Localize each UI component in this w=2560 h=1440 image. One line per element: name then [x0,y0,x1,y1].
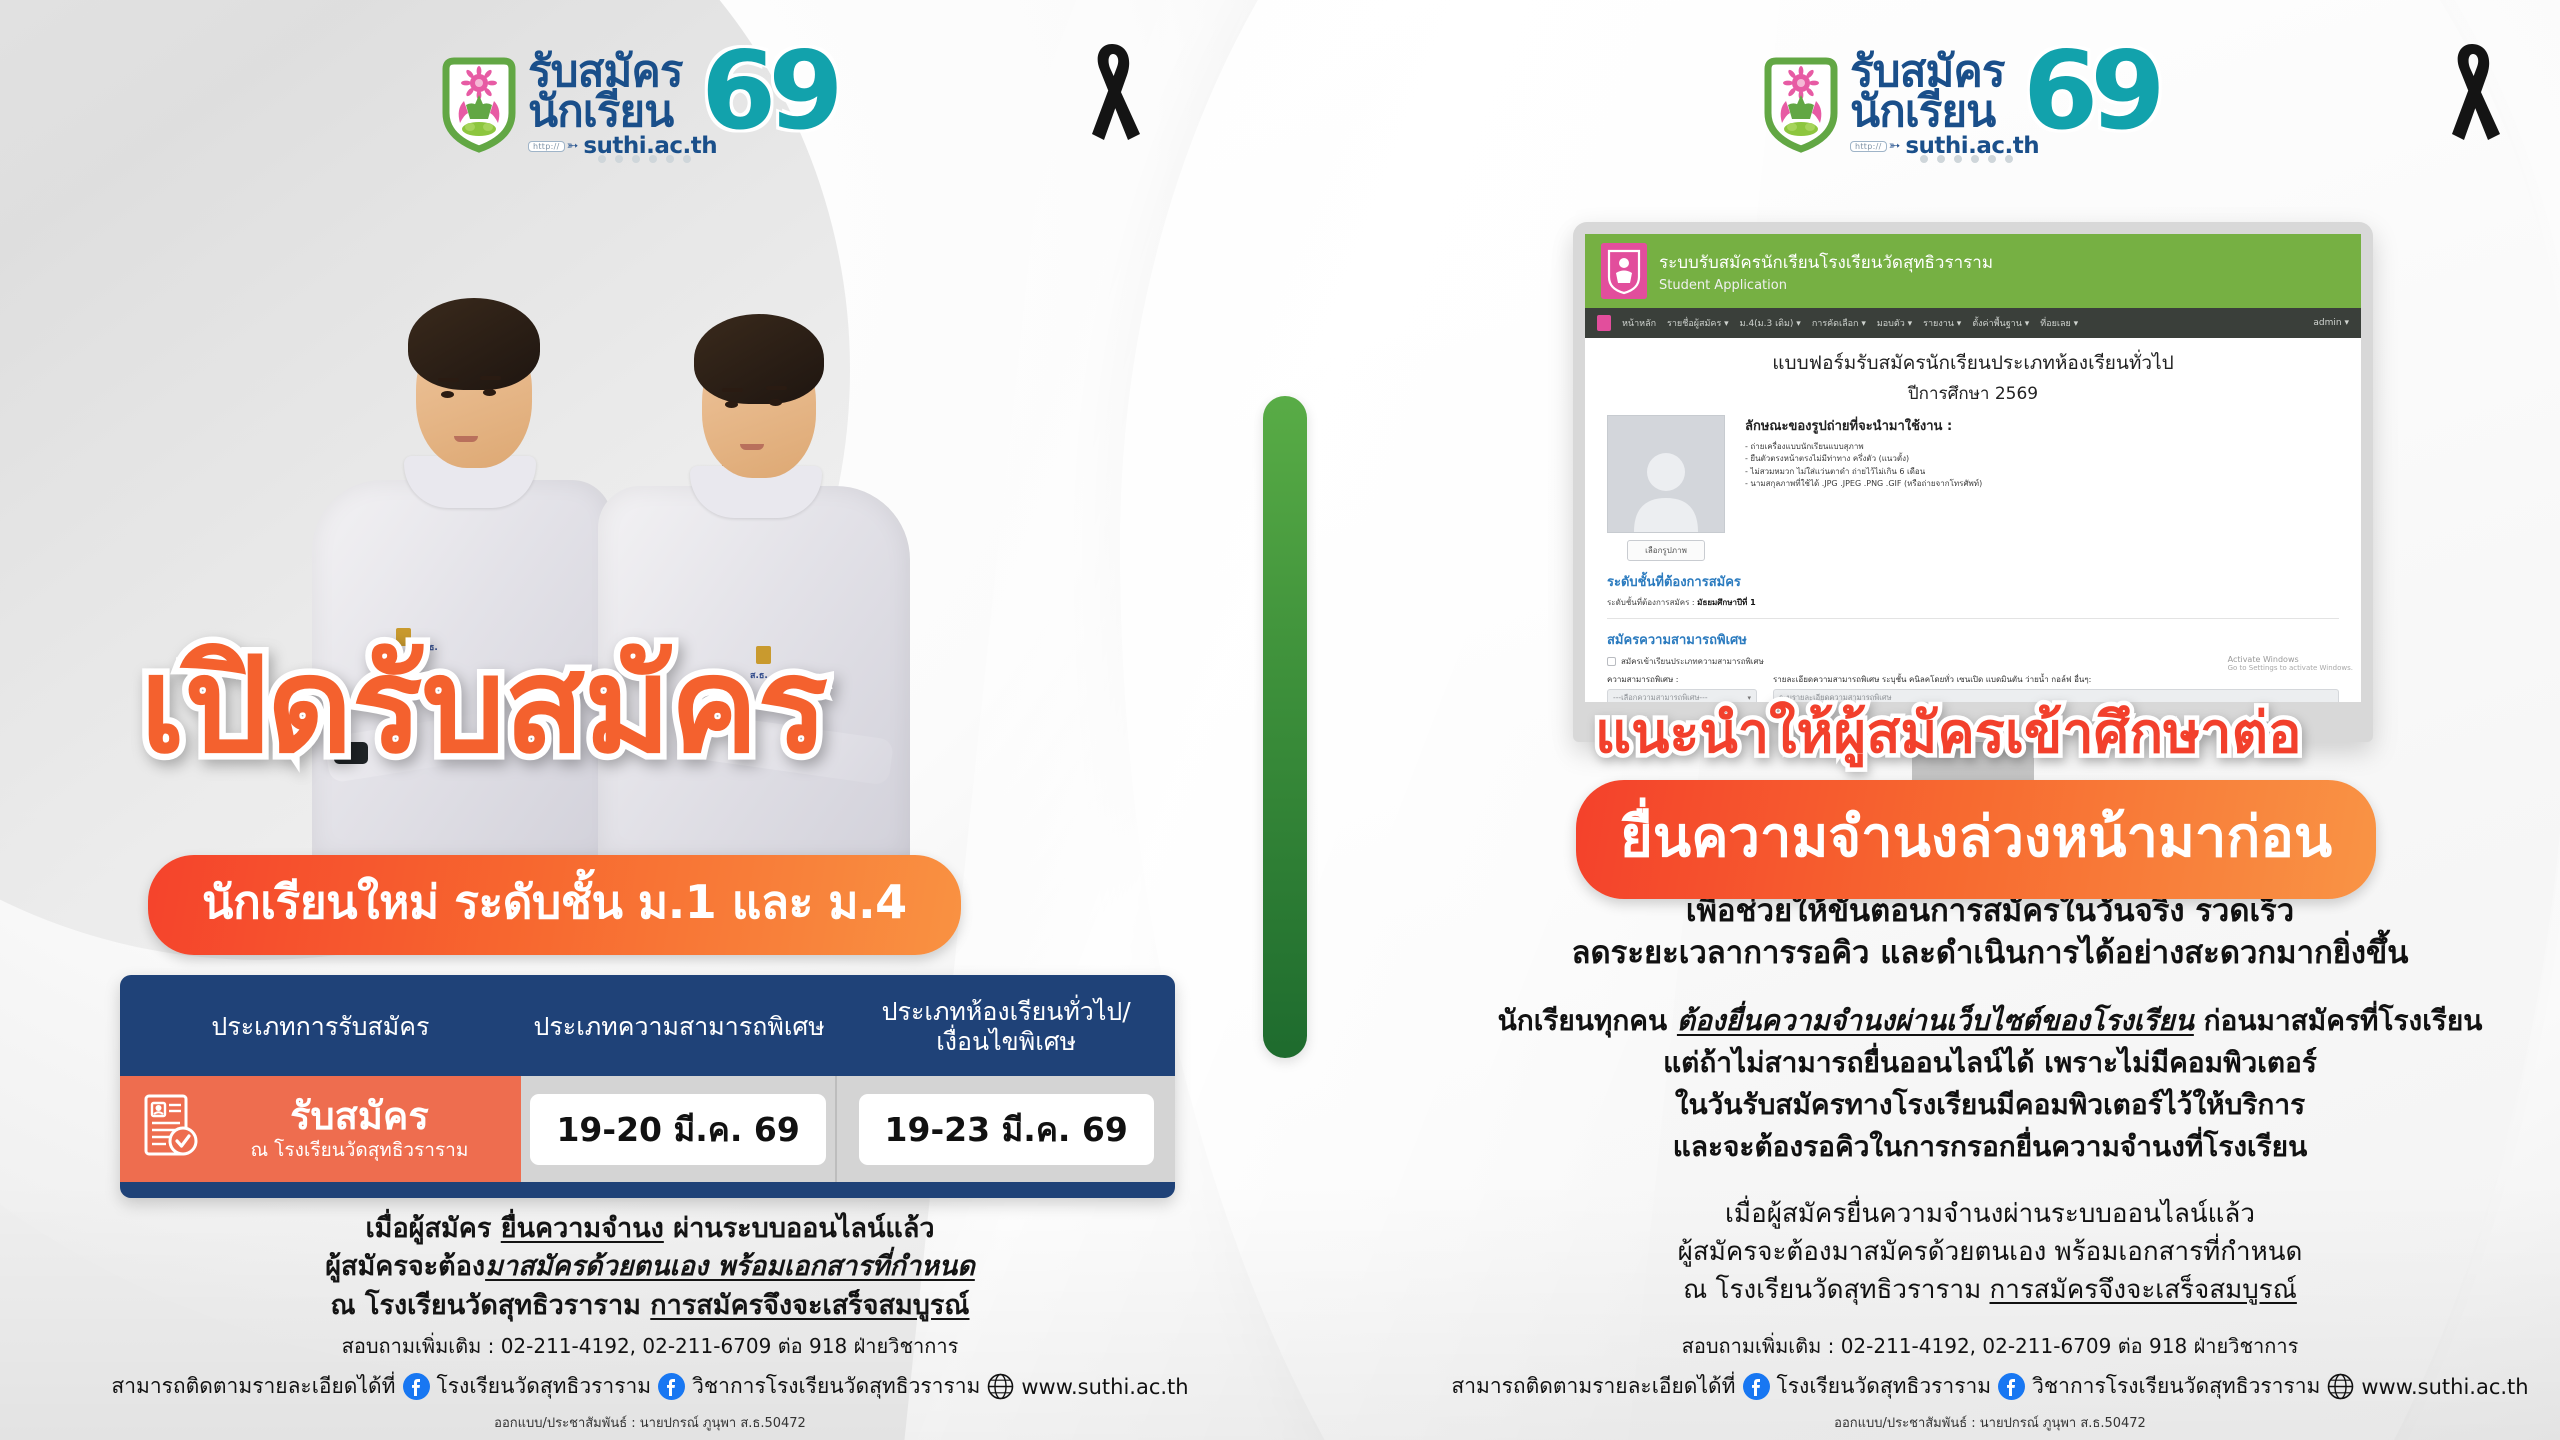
site-title-thai: ระบบรับสมัครนักเรียนโรงเรียนวัดสุทธิวราร… [1659,249,1993,276]
right-body2-l1-underline: ต้องยื่นความจำนงผ่านเว็บไซต์ของโรงเรียน [1677,1004,2194,1037]
mourning-ribbon-icon [2436,38,2508,146]
facebook-icon[interactable] [658,1373,685,1400]
nav-item-5[interactable]: รายงาน ▾ [1923,316,1961,330]
special-ability-checkbox-label: สมัครเข้าเรียนประเภทความสามารถพิเศษ [1621,655,1764,668]
globe-icon[interactable] [2327,1373,2354,1400]
logo-lockup-right: รับสมัคร นักเรียน http:// ➳ suthi.ac.th … [1762,52,2157,157]
right-body3-l3-underline: การสมัครจึงจะเสร็จสมบูรณ์ [1990,1275,2297,1305]
url-chip: http:// [528,141,565,152]
contact-follow-prefix: สามารถติดตามรายละเอียดได้ที่ [111,1370,395,1403]
left-notes-block: เมื่อผู้สมัคร ยื่นความจำนง ผ่านระบบออนไล… [120,1210,1180,1325]
facebook-page-1[interactable]: โรงเรียนวัดสุทธิวราราม [1777,1370,1992,1403]
right-body2-line1: นักเรียนทุกคน ต้องยื่นความจำนงผ่านเว็บไซ… [1440,1000,2540,1042]
table-cell-date-general: 19-23 มี.ค. 69 [837,1076,1175,1182]
right-body3-l3a: ณ โรงเรียนวัดสุทธิวราราม [1683,1275,1989,1305]
application-form: แบบฟอร์มรับสมัครนักเรียนประเภทห้องเรียนท… [1585,338,2361,702]
left-note-1a: เมื่อผู้สมัคร [365,1213,500,1244]
school-crest-icon [1762,57,1840,153]
document-check-icon [142,1094,200,1164]
main-headline: เปิดรับสมัคร [140,640,827,772]
right-body3-line1: เมื่อผู้สมัครยื่นความจำนงผ่านระบบออนไลน์… [1440,1196,2540,1234]
mourning-ribbon-icon [1076,38,1148,146]
left-note-line-3: ณ โรงเรียนวัดสุทธิวราราม การสมัครจึงจะเส… [120,1287,1180,1325]
table-header-general-l2: เงื่อนไขพิเศษ [936,1027,1076,1056]
site-header: ระบบรับสมัครนักเรียนโรงเรียนวัดสุทธิวราร… [1585,234,2361,308]
table-row-label-subtitle: ณ โรงเรียนวัดสุทธิวราราม [251,1140,469,1162]
table-cell-date-special: 19-20 มี.ค. 69 [521,1076,838,1182]
form-title-line-1: แบบฟอร์มรับสมัครนักเรียนประเภทห้องเรียนท… [1607,348,2339,378]
special-ability-checkbox[interactable] [1607,657,1616,666]
facebook-page-2[interactable]: วิชาการโรงเรียนวัดสุทธิวราราม [692,1370,980,1403]
credit-line: ออกแบบ/ประชาสัมพันธ์ : นายปกรณ์ ภูนุพา ส… [1440,1412,2540,1433]
green-divider-bar [1263,396,1307,1058]
field-label: รายละเอียดความสามารถพิเศษ ระบุชั้น คนิลค… [1773,673,2339,686]
table-row-label-cell: รับสมัคร ณ โรงเรียนวัดสุทธิวราราม [120,1076,521,1182]
contact-follow-line: สามารถติดตามรายละเอียดได้ที่ โรงเรียนวัด… [110,1370,1190,1403]
left-note-line-2: ผู้สมัครจะต้องมาสมัครด้วยตนเอง พร้อมเอกส… [120,1248,1180,1286]
facebook-page-1[interactable]: โรงเรียนวัดสุทธิวราราม [437,1370,652,1403]
photo-upload-row: เลือกรูปภาพ ลักษณะของรูปถ่ายที่จะนำมาใช้… [1607,415,2339,561]
left-note-1-underline: ยื่นความจำนง [501,1213,664,1244]
right-headline-top: แนะนำให้ผู้สมัครเข้าศึกษาต่อ [1595,688,2302,777]
contact-follow-prefix: สามารถติดตามรายละเอียดได้ที่ [1451,1370,1735,1403]
right-body2: นักเรียนทุกคน ต้องยื่นความจำนงผ่านเว็บไซ… [1440,1000,2540,1168]
logo-url-row: http:// ➳ suthi.ac.th [528,136,717,157]
monitor-bezel: ระบบรับสมัครนักเรียนโรงเรียนวัดสุทธิวราร… [1573,222,2373,742]
facebook-icon[interactable] [1998,1373,2025,1400]
site-nav-bar[interactable]: หน้าหลัก รายชื่อผู้สมัคร ▾ ม.4(ม.3 เดิม)… [1585,308,2361,338]
cursor-icon: ➳ [1889,140,1901,153]
nav-item-0[interactable]: หน้าหลัก [1622,316,1656,330]
windows-activation-watermark: Activate Windows Go to Settings to activ… [2228,655,2353,672]
form-title-line-2: ปีการศึกษา 2569 [1607,380,2339,407]
globe-icon[interactable] [987,1373,1014,1400]
date-chip: 19-20 มี.ค. 69 [530,1094,825,1165]
contact-phone-line: สอบถามเพิ่มเติม : 02-211-4192, 02-211-67… [110,1330,1190,1362]
left-note-3a: ณ โรงเรียนวัดสุทธิวราราม [331,1290,651,1321]
left-note-line-1: เมื่อผู้สมัคร ยื่นความจำนง ผ่านระบบออนไล… [120,1210,1180,1248]
section-title-grade: ระดับชั้นที่ต้องการสมัคร [1607,571,2339,592]
section-grade-value: ระดับชั้นที่ต้องการสมัคร : มัธยมศึกษาปีท… [1607,596,2339,609]
right-body3-line3: ณ โรงเรียนวัดสุทธิวราราม การสมัครจึงจะเส… [1440,1272,2540,1310]
table-header-row: ประเภทการรับสมัคร ประเภทความสามารถพิเศษ … [120,975,1175,1076]
school-crest-icon [440,57,518,153]
contact-follow-line: สามารถติดตามรายละเอียดได้ที่ โรงเรียนวัด… [1440,1370,2540,1403]
nav-item-4[interactable]: มอบตัว ▾ [1877,316,1912,330]
year-badge-69: 69 [2023,50,2157,134]
logo-wordmark: รับสมัคร นักเรียน http:// ➳ suthi.ac.th … [528,52,835,157]
watermark-line-2: Go to Settings to activate Windows. [2228,664,2353,672]
logo-line-2: นักเรียน [528,92,717,132]
year-badge-69: 69 [701,50,835,134]
logo-url-text: suthi.ac.th [583,136,717,157]
left-note-2-underline: มาสมัครด้วยตนเอง พร้อมเอกสารที่กำหนด [485,1251,975,1282]
logo-wordmark: รับสมัคร นักเรียน http:// ➳ suthi.ac.th … [1850,52,2157,157]
logo-url-row: http:// ➳ suthi.ac.th [1850,136,2039,157]
left-note-2a: ผู้สมัครจะต้อง [325,1251,485,1282]
facebook-page-2[interactable]: วิชาการโรงเรียนวัดสุทธิวราราม [2032,1370,2320,1403]
divider-line [1607,618,2339,619]
nav-item-7[interactable]: ที่อยเลย ▾ [2040,316,2078,330]
photo-requirements: ลักษณะของรูปถ่ายที่จะนำมาใช้งาน : - ถ่าย… [1745,415,2339,561]
field-label: ความสามารถพิเศษ : [1607,673,1757,686]
photo-preview-frame [1607,415,1725,533]
nav-item-3[interactable]: การคัดเลือก ▾ [1812,316,1866,330]
nav-item-1[interactable]: รายชื่อผู้สมัคร ▾ [1667,316,1729,330]
grade-value: มัธยมศึกษาปีที่ 1 [1697,598,1756,607]
logo-dot-row [598,155,691,163]
grade-level-pill: นักเรียนใหม่ ระดับชั้น ม.1 และ ม.4 [148,855,961,955]
photo-req-item: - ไม่สวมหมวก ไม่ใส่แว่นตาดำ ถ่ายไว้ไม่เก… [1745,466,2339,478]
logo-lockup-left: รับสมัคร นักเรียน http:// ➳ suthi.ac.th … [440,52,835,157]
logo-line-2: นักเรียน [1850,92,2039,132]
left-note-3-underline: การสมัครจึงจะเสร็จสมบูรณ์ [650,1290,969,1321]
grade-label: ระดับชั้นที่ต้องการสมัคร : [1607,598,1695,607]
right-body1-line2: ลดระยะเวลาการรอคิว และดำเนินการได้อย่างส… [1440,932,2540,974]
photo-req-item: - นามสกุลภาพที่ใช้ได้ .JPG .JPEG .PNG .G… [1745,478,2339,490]
table-header-cell-type: ประเภทการรับสมัคร [120,975,521,1076]
choose-photo-button[interactable]: เลือกรูปภาพ [1627,540,1705,561]
poster-canvas: รับสมัคร นักเรียน http:// ➳ suthi.ac.th … [0,0,2560,1440]
table-body-row: รับสมัคร ณ โรงเรียนวัดสุทธิวราราม 19-20 … [120,1076,1175,1182]
photo-req-item: - ยืนตัวตรงหน้าตรงไม่มีท่าทาง ครึ่งตัว (… [1745,453,2339,465]
site-crest-icon [1601,243,1647,299]
section-title-special: สมัครความสามารถพิเศษ [1607,629,2339,650]
website-link[interactable]: www.suthi.ac.th [2361,1375,2528,1399]
right-body2-line3: ในวันรับสมัครทางโรงเรียนมีคอมพิวเตอร์ไว้… [1440,1084,2540,1126]
table-row-label-title: รับสมัคร [290,1096,429,1138]
contact-phone-line: สอบถามเพิ่มเติม : 02-211-4192, 02-211-67… [1440,1330,2540,1362]
nav-item-6[interactable]: ตั้งค่าพื้นฐาน ▾ [1972,316,2029,330]
admission-schedule-table: ประเภทการรับสมัคร ประเภทความสามารถพิเศษ … [120,975,1175,1198]
right-body-block: เพื่อช่วยให้ขั้นตอนการสมัครในวันจริง รวด… [1440,890,2540,1309]
right-body3: เมื่อผู้สมัครยื่นความจำนงผ่านระบบออนไลน์… [1440,1196,2540,1309]
url-chip: http:// [1850,141,1887,152]
photo-upload-box[interactable]: เลือกรูปภาพ [1607,415,1725,561]
computer-monitor: ระบบรับสมัครนักเรียนโรงเรียนวัดสุทธิวราร… [1573,222,2373,742]
table-header-cell-special: ประเภทความสามารถพิเศษ [521,975,838,1076]
contact-block-right: สอบถามเพิ่มเติม : 02-211-4192, 02-211-67… [1440,1330,2540,1433]
right-body1: เพื่อช่วยให้ขั้นตอนการสมัครในวันจริง รวด… [1440,890,2540,974]
site-title-english: Student Application [1659,278,1993,293]
table-header-general-l1: ประเภทห้องเรียนทั่วไป/ [882,997,1131,1026]
monitor-screen: ระบบรับสมัครนักเรียนโรงเรียนวัดสุทธิวราร… [1585,234,2361,702]
right-headline-pill: ยื่นความจำนงล่วงหน้ามาก่อน [1576,780,2376,899]
avatar-silhouette-icon [1630,446,1702,532]
nav-item-2[interactable]: ม.4(ม.3 เดิม) ▾ [1740,316,1801,330]
cursor-icon: ➳ [567,140,579,153]
website-link[interactable]: www.suthi.ac.th [1021,1375,1188,1399]
right-body2-line2: แต่ถ้าไม่สามารถยื่นออนไลน์ได้ เพราะไม่มี… [1440,1042,2540,1084]
logo-url-text: suthi.ac.th [1905,136,2039,157]
right-body2-l1a: นักเรียนทุกคน [1498,1004,1677,1037]
right-body3-line2: ผู้สมัครจะต้องมาสมัครด้วยตนเอง พร้อมเอกส… [1440,1234,2540,1272]
facebook-icon[interactable] [1743,1373,1770,1400]
date-chip: 19-23 มี.ค. 69 [859,1094,1154,1165]
photo-req-item: - ถ่ายเครื่องแบบนักเรียนแบบสุภาพ [1745,441,2339,453]
facebook-icon[interactable] [403,1373,430,1400]
left-note-1b: ผ่านระบบออนไลน์แล้ว [664,1213,935,1244]
nav-logo-icon [1597,315,1611,331]
credit-line: ออกแบบ/ประชาสัมพันธ์ : นายปกรณ์ ภูนุพา ส… [110,1412,1190,1433]
photo-requirements-title: ลักษณะของรูปถ่ายที่จะนำมาใช้งาน : [1745,415,2339,436]
logo-dot-row [1920,155,2013,163]
nav-admin-menu[interactable]: admin ▾ [2313,318,2349,328]
right-body2-l1b: ก่อนมาสมัครที่โรงเรียน [2194,1004,2483,1037]
table-header-cell-general: ประเภทห้องเรียนทั่วไป/ เงื่อนไขพิเศษ [837,975,1175,1076]
contact-block-left: สอบถามเพิ่มเติม : 02-211-4192, 02-211-67… [110,1330,1190,1433]
watermark-line-1: Activate Windows [2228,655,2353,664]
right-body2-line4: และจะต้องรอคิวในการกรอกยื่นความจำนงที่โร… [1440,1126,2540,1168]
